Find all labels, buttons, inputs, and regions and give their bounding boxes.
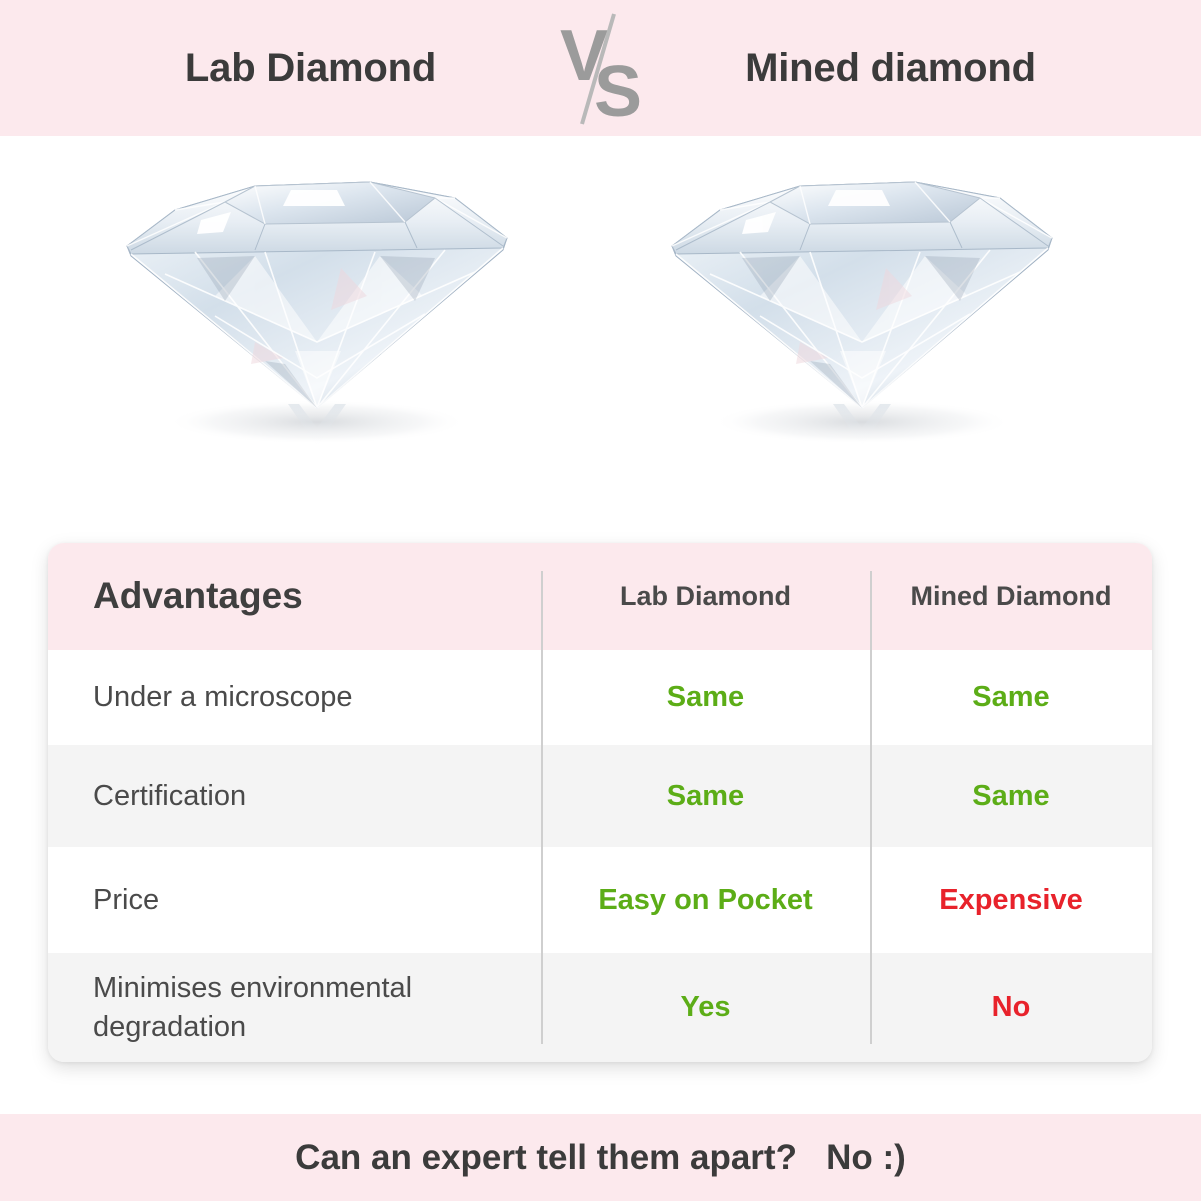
footer-banner: Can an expert tell them apart? No :) <box>0 1114 1201 1201</box>
row-label-minimises-environmental-degradation: Minimises environmental degradation <box>48 969 541 1046</box>
row-value-mined-under-a-microscope: Same <box>870 681 1152 714</box>
row-value-lab-under-a-microscope: Same <box>541 681 870 714</box>
header-cell-mined-diamond: Mined Diamond <box>870 581 1152 612</box>
row-value-mined-certification: Same <box>870 780 1152 813</box>
row-value-lab-minimises-environmental-degradation: Yes <box>541 991 870 1024</box>
diamond-image-area <box>0 136 1201 526</box>
header-inner: Lab Diamond V S Mined diamond <box>0 8 1201 128</box>
row-value-lab-certification: Same <box>541 780 870 813</box>
table-row: Under a microscope Same Same <box>48 650 1152 745</box>
table-row: Price Easy on Pocket Expensive <box>48 847 1152 953</box>
row-value-mined-price: Expensive <box>870 884 1152 917</box>
header-title-mined-diamond: Mined diamond <box>656 46 1126 91</box>
header-cell-lab-diamond: Lab Diamond <box>541 581 870 612</box>
footer-question-text: Can an expert tell them apart? No :) <box>295 1138 906 1178</box>
table-header-row: Advantages Lab Diamond Mined Diamond <box>48 543 1152 650</box>
comparison-table-card: Advantages Lab Diamond Mined Diamond Und… <box>48 543 1152 1062</box>
row-label-certification: Certification <box>48 777 541 815</box>
comparison-table: Advantages Lab Diamond Mined Diamond Und… <box>48 543 1152 1062</box>
vs-icon: V S <box>546 8 656 128</box>
header-title-lab-diamond: Lab Diamond <box>76 46 546 91</box>
column-divider-1 <box>541 571 543 1044</box>
header-banner: Lab Diamond V S Mined diamond <box>0 0 1201 136</box>
lab-diamond-image <box>105 146 525 476</box>
mined-diamond-image <box>650 146 1070 476</box>
row-value-lab-price: Easy on Pocket <box>541 884 870 917</box>
table-row: Certification Same Same <box>48 745 1152 847</box>
row-label-price: Price <box>48 881 541 919</box>
row-value-mined-minimises-environmental-degradation: No <box>870 991 1152 1024</box>
header-cell-advantages: Advantages <box>48 572 541 621</box>
column-divider-2 <box>870 571 872 1044</box>
row-label-under-a-microscope: Under a microscope <box>48 678 541 716</box>
table-row: Minimises environmental degradation Yes … <box>48 953 1152 1062</box>
